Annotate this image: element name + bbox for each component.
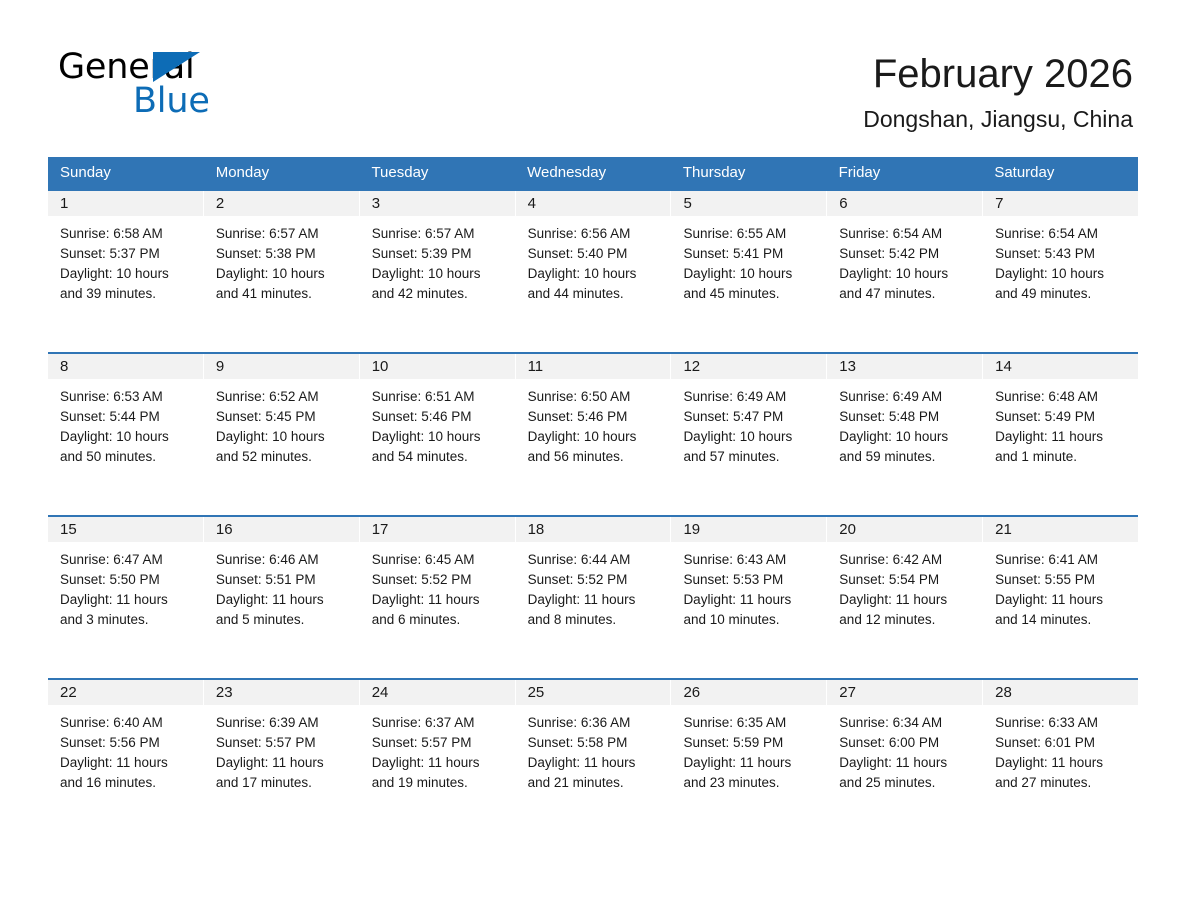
day-details: Sunrise: 6:46 AM Sunset: 5:51 PM Dayligh… bbox=[204, 542, 359, 630]
day-number: 14 bbox=[983, 354, 1138, 379]
sunrise-text: Sunrise: 6:53 AM bbox=[60, 387, 193, 407]
day-cell[interactable]: 2 Sunrise: 6:57 AM Sunset: 5:38 PM Dayli… bbox=[204, 191, 360, 352]
day-details: Sunrise: 6:52 AM Sunset: 5:45 PM Dayligh… bbox=[204, 379, 359, 467]
day-cell[interactable]: 12 Sunrise: 6:49 AM Sunset: 5:47 PM Dayl… bbox=[671, 354, 827, 515]
sunset-text: Sunset: 5:54 PM bbox=[839, 570, 972, 590]
day-number: 7 bbox=[983, 191, 1138, 216]
day-number: 16 bbox=[204, 517, 359, 542]
day-details: Sunrise: 6:43 AM Sunset: 5:53 PM Dayligh… bbox=[671, 542, 826, 630]
day-number: 24 bbox=[360, 680, 515, 705]
day-cell[interactable]: 17 Sunrise: 6:45 AM Sunset: 5:52 PM Dayl… bbox=[360, 517, 516, 678]
sunrise-text: Sunrise: 6:46 AM bbox=[216, 550, 349, 570]
day-cell[interactable]: 10 Sunrise: 6:51 AM Sunset: 5:46 PM Dayl… bbox=[360, 354, 516, 515]
day-cell[interactable]: 14 Sunrise: 6:48 AM Sunset: 5:49 PM Dayl… bbox=[983, 354, 1138, 515]
daylight-text: Daylight: 11 hours and 6 minutes. bbox=[372, 590, 505, 630]
daylight-text: Daylight: 10 hours and 56 minutes. bbox=[528, 427, 661, 467]
day-details: Sunrise: 6:34 AM Sunset: 6:00 PM Dayligh… bbox=[827, 705, 982, 793]
day-number: 9 bbox=[204, 354, 359, 379]
sunrise-text: Sunrise: 6:47 AM bbox=[60, 550, 193, 570]
day-details: Sunrise: 6:48 AM Sunset: 5:49 PM Dayligh… bbox=[983, 379, 1138, 467]
sunrise-text: Sunrise: 6:55 AM bbox=[683, 224, 816, 244]
sunset-text: Sunset: 5:40 PM bbox=[528, 244, 661, 264]
sunset-text: Sunset: 5:38 PM bbox=[216, 244, 349, 264]
daylight-text: Daylight: 11 hours and 12 minutes. bbox=[839, 590, 972, 630]
weekday-header-thursday: Thursday bbox=[671, 157, 827, 189]
day-details: Sunrise: 6:53 AM Sunset: 5:44 PM Dayligh… bbox=[48, 379, 203, 467]
day-number: 2 bbox=[204, 191, 359, 216]
day-details: Sunrise: 6:57 AM Sunset: 5:38 PM Dayligh… bbox=[204, 216, 359, 304]
day-details: Sunrise: 6:39 AM Sunset: 5:57 PM Dayligh… bbox=[204, 705, 359, 793]
page-subtitle: Dongshan, Jiangsu, China bbox=[863, 104, 1133, 134]
week-row: 1 Sunrise: 6:58 AM Sunset: 5:37 PM Dayli… bbox=[48, 189, 1138, 352]
day-cell[interactable]: 5 Sunrise: 6:55 AM Sunset: 5:41 PM Dayli… bbox=[671, 191, 827, 352]
sunset-text: Sunset: 5:58 PM bbox=[528, 733, 661, 753]
daylight-text: Daylight: 10 hours and 41 minutes. bbox=[216, 264, 349, 304]
sunset-text: Sunset: 5:41 PM bbox=[683, 244, 816, 264]
day-number: 13 bbox=[827, 354, 982, 379]
daylight-text: Daylight: 11 hours and 21 minutes. bbox=[528, 753, 661, 793]
daylight-text: Daylight: 10 hours and 52 minutes. bbox=[216, 427, 349, 467]
day-number: 10 bbox=[360, 354, 515, 379]
sunrise-text: Sunrise: 6:48 AM bbox=[995, 387, 1128, 407]
day-details: Sunrise: 6:33 AM Sunset: 6:01 PM Dayligh… bbox=[983, 705, 1138, 793]
sunrise-text: Sunrise: 6:45 AM bbox=[372, 550, 505, 570]
daylight-text: Daylight: 11 hours and 3 minutes. bbox=[60, 590, 193, 630]
sunset-text: Sunset: 5:39 PM bbox=[372, 244, 505, 264]
sunrise-text: Sunrise: 6:57 AM bbox=[216, 224, 349, 244]
week-row: 8 Sunrise: 6:53 AM Sunset: 5:44 PM Dayli… bbox=[48, 352, 1138, 515]
week-row: 22 Sunrise: 6:40 AM Sunset: 5:56 PM Dayl… bbox=[48, 678, 1138, 841]
sunrise-text: Sunrise: 6:35 AM bbox=[683, 713, 816, 733]
daylight-text: Daylight: 10 hours and 44 minutes. bbox=[528, 264, 661, 304]
daylight-text: Daylight: 11 hours and 23 minutes. bbox=[683, 753, 816, 793]
day-details: Sunrise: 6:54 AM Sunset: 5:42 PM Dayligh… bbox=[827, 216, 982, 304]
day-details: Sunrise: 6:49 AM Sunset: 5:47 PM Dayligh… bbox=[671, 379, 826, 467]
week-row: 15 Sunrise: 6:47 AM Sunset: 5:50 PM Dayl… bbox=[48, 515, 1138, 678]
title-block: February 2026 Dongshan, Jiangsu, China bbox=[863, 50, 1133, 134]
sunset-text: Sunset: 5:59 PM bbox=[683, 733, 816, 753]
logo-text-blue: Blue bbox=[133, 82, 210, 120]
sunrise-text: Sunrise: 6:54 AM bbox=[995, 224, 1128, 244]
daylight-text: Daylight: 11 hours and 19 minutes. bbox=[372, 753, 505, 793]
day-details: Sunrise: 6:37 AM Sunset: 5:57 PM Dayligh… bbox=[360, 705, 515, 793]
sunset-text: Sunset: 6:01 PM bbox=[995, 733, 1128, 753]
sunrise-text: Sunrise: 6:44 AM bbox=[528, 550, 661, 570]
sunset-text: Sunset: 5:52 PM bbox=[528, 570, 661, 590]
day-cell[interactable]: 3 Sunrise: 6:57 AM Sunset: 5:39 PM Dayli… bbox=[360, 191, 516, 352]
weekday-header-row: Sunday Monday Tuesday Wednesday Thursday… bbox=[48, 157, 1138, 189]
day-cell[interactable]: 8 Sunrise: 6:53 AM Sunset: 5:44 PM Dayli… bbox=[48, 354, 204, 515]
sunset-text: Sunset: 5:55 PM bbox=[995, 570, 1128, 590]
daylight-text: Daylight: 11 hours and 27 minutes. bbox=[995, 753, 1128, 793]
day-number: 12 bbox=[671, 354, 826, 379]
sunrise-text: Sunrise: 6:33 AM bbox=[995, 713, 1128, 733]
day-number: 28 bbox=[983, 680, 1138, 705]
sunrise-text: Sunrise: 6:49 AM bbox=[683, 387, 816, 407]
logo-triangle-icon bbox=[153, 52, 200, 82]
sunrise-text: Sunrise: 6:50 AM bbox=[528, 387, 661, 407]
sunset-text: Sunset: 5:49 PM bbox=[995, 407, 1128, 427]
calendar-table: Sunday Monday Tuesday Wednesday Thursday… bbox=[48, 157, 1138, 841]
sunset-text: Sunset: 5:37 PM bbox=[60, 244, 193, 264]
daylight-text: Daylight: 10 hours and 54 minutes. bbox=[372, 427, 505, 467]
sunrise-text: Sunrise: 6:34 AM bbox=[839, 713, 972, 733]
day-details: Sunrise: 6:47 AM Sunset: 5:50 PM Dayligh… bbox=[48, 542, 203, 630]
sunrise-text: Sunrise: 6:39 AM bbox=[216, 713, 349, 733]
sunrise-text: Sunrise: 6:56 AM bbox=[528, 224, 661, 244]
day-number: 15 bbox=[48, 517, 203, 542]
day-details: Sunrise: 6:56 AM Sunset: 5:40 PM Dayligh… bbox=[516, 216, 671, 304]
page-header: General Blue February 2026 Dongshan, Jia… bbox=[0, 0, 1188, 110]
sunset-text: Sunset: 5:42 PM bbox=[839, 244, 972, 264]
sunset-text: Sunset: 5:43 PM bbox=[995, 244, 1128, 264]
day-cell[interactable]: 7 Sunrise: 6:54 AM Sunset: 5:43 PM Dayli… bbox=[983, 191, 1138, 352]
daylight-text: Daylight: 11 hours and 8 minutes. bbox=[528, 590, 661, 630]
daylight-text: Daylight: 10 hours and 59 minutes. bbox=[839, 427, 972, 467]
daylight-text: Daylight: 10 hours and 50 minutes. bbox=[60, 427, 193, 467]
day-details: Sunrise: 6:42 AM Sunset: 5:54 PM Dayligh… bbox=[827, 542, 982, 630]
sunset-text: Sunset: 5:46 PM bbox=[528, 407, 661, 427]
page-title: February 2026 bbox=[863, 50, 1133, 98]
day-number: 1 bbox=[48, 191, 203, 216]
weekday-header-sunday: Sunday bbox=[48, 157, 204, 189]
sunset-text: Sunset: 5:53 PM bbox=[683, 570, 816, 590]
weekday-header-monday: Monday bbox=[204, 157, 360, 189]
daylight-text: Daylight: 10 hours and 39 minutes. bbox=[60, 264, 193, 304]
day-details: Sunrise: 6:36 AM Sunset: 5:58 PM Dayligh… bbox=[516, 705, 671, 793]
day-cell[interactable]: 20 Sunrise: 6:42 AM Sunset: 5:54 PM Dayl… bbox=[827, 517, 983, 678]
day-number: 3 bbox=[360, 191, 515, 216]
daylight-text: Daylight: 10 hours and 57 minutes. bbox=[683, 427, 816, 467]
day-cell[interactable]: 9 Sunrise: 6:52 AM Sunset: 5:45 PM Dayli… bbox=[204, 354, 360, 515]
daylight-text: Daylight: 11 hours and 16 minutes. bbox=[60, 753, 193, 793]
day-cell[interactable]: 13 Sunrise: 6:49 AM Sunset: 5:48 PM Dayl… bbox=[827, 354, 983, 515]
sunset-text: Sunset: 5:44 PM bbox=[60, 407, 193, 427]
sunset-text: Sunset: 5:57 PM bbox=[372, 733, 505, 753]
day-cell[interactable]: 11 Sunrise: 6:50 AM Sunset: 5:46 PM Dayl… bbox=[516, 354, 672, 515]
day-number: 26 bbox=[671, 680, 826, 705]
day-cell[interactable]: 28 Sunrise: 6:33 AM Sunset: 6:01 PM Dayl… bbox=[983, 680, 1138, 841]
daylight-text: Daylight: 10 hours and 49 minutes. bbox=[995, 264, 1128, 304]
day-cell[interactable]: 24 Sunrise: 6:37 AM Sunset: 5:57 PM Dayl… bbox=[360, 680, 516, 841]
day-cell[interactable]: 19 Sunrise: 6:43 AM Sunset: 5:53 PM Dayl… bbox=[671, 517, 827, 678]
day-details: Sunrise: 6:40 AM Sunset: 5:56 PM Dayligh… bbox=[48, 705, 203, 793]
day-cell[interactable]: 25 Sunrise: 6:36 AM Sunset: 5:58 PM Dayl… bbox=[516, 680, 672, 841]
daylight-text: Daylight: 11 hours and 1 minute. bbox=[995, 427, 1128, 467]
sunrise-text: Sunrise: 6:49 AM bbox=[839, 387, 972, 407]
day-details: Sunrise: 6:41 AM Sunset: 5:55 PM Dayligh… bbox=[983, 542, 1138, 630]
sunset-text: Sunset: 5:46 PM bbox=[372, 407, 505, 427]
sunset-text: Sunset: 5:50 PM bbox=[60, 570, 193, 590]
sunrise-text: Sunrise: 6:52 AM bbox=[216, 387, 349, 407]
day-cell[interactable]: 23 Sunrise: 6:39 AM Sunset: 5:57 PM Dayl… bbox=[204, 680, 360, 841]
sunrise-text: Sunrise: 6:41 AM bbox=[995, 550, 1128, 570]
sunrise-text: Sunrise: 6:51 AM bbox=[372, 387, 505, 407]
weekday-header-wednesday: Wednesday bbox=[515, 157, 671, 189]
day-cell[interactable]: 18 Sunrise: 6:44 AM Sunset: 5:52 PM Dayl… bbox=[516, 517, 672, 678]
day-cell[interactable]: 4 Sunrise: 6:56 AM Sunset: 5:40 PM Dayli… bbox=[516, 191, 672, 352]
day-details: Sunrise: 6:55 AM Sunset: 5:41 PM Dayligh… bbox=[671, 216, 826, 304]
day-details: Sunrise: 6:35 AM Sunset: 5:59 PM Dayligh… bbox=[671, 705, 826, 793]
daylight-text: Daylight: 11 hours and 25 minutes. bbox=[839, 753, 972, 793]
daylight-text: Daylight: 11 hours and 10 minutes. bbox=[683, 590, 816, 630]
day-cell[interactable]: 27 Sunrise: 6:34 AM Sunset: 6:00 PM Dayl… bbox=[827, 680, 983, 841]
day-details: Sunrise: 6:44 AM Sunset: 5:52 PM Dayligh… bbox=[516, 542, 671, 630]
day-details: Sunrise: 6:49 AM Sunset: 5:48 PM Dayligh… bbox=[827, 379, 982, 467]
day-number: 21 bbox=[983, 517, 1138, 542]
daylight-text: Daylight: 11 hours and 5 minutes. bbox=[216, 590, 349, 630]
sunrise-text: Sunrise: 6:42 AM bbox=[839, 550, 972, 570]
day-details: Sunrise: 6:57 AM Sunset: 5:39 PM Dayligh… bbox=[360, 216, 515, 304]
day-cell[interactable]: 16 Sunrise: 6:46 AM Sunset: 5:51 PM Dayl… bbox=[204, 517, 360, 678]
day-number: 6 bbox=[827, 191, 982, 216]
day-cell[interactable]: 15 Sunrise: 6:47 AM Sunset: 5:50 PM Dayl… bbox=[48, 517, 204, 678]
sunset-text: Sunset: 5:51 PM bbox=[216, 570, 349, 590]
sunset-text: Sunset: 6:00 PM bbox=[839, 733, 972, 753]
day-cell[interactable]: 1 Sunrise: 6:58 AM Sunset: 5:37 PM Dayli… bbox=[48, 191, 204, 352]
sunrise-text: Sunrise: 6:40 AM bbox=[60, 713, 193, 733]
day-details: Sunrise: 6:51 AM Sunset: 5:46 PM Dayligh… bbox=[360, 379, 515, 467]
sunset-text: Sunset: 5:57 PM bbox=[216, 733, 349, 753]
sunset-text: Sunset: 5:45 PM bbox=[216, 407, 349, 427]
daylight-text: Daylight: 11 hours and 17 minutes. bbox=[216, 753, 349, 793]
sunrise-text: Sunrise: 6:36 AM bbox=[528, 713, 661, 733]
sunset-text: Sunset: 5:52 PM bbox=[372, 570, 505, 590]
day-number: 25 bbox=[516, 680, 671, 705]
day-cell[interactable]: 22 Sunrise: 6:40 AM Sunset: 5:56 PM Dayl… bbox=[48, 680, 204, 841]
day-cell[interactable]: 6 Sunrise: 6:54 AM Sunset: 5:42 PM Dayli… bbox=[827, 191, 983, 352]
sunrise-text: Sunrise: 6:37 AM bbox=[372, 713, 505, 733]
day-number: 5 bbox=[671, 191, 826, 216]
day-number: 18 bbox=[516, 517, 671, 542]
daylight-text: Daylight: 11 hours and 14 minutes. bbox=[995, 590, 1128, 630]
weekday-header-tuesday: Tuesday bbox=[359, 157, 515, 189]
daylight-text: Daylight: 10 hours and 47 minutes. bbox=[839, 264, 972, 304]
day-number: 27 bbox=[827, 680, 982, 705]
day-details: Sunrise: 6:50 AM Sunset: 5:46 PM Dayligh… bbox=[516, 379, 671, 467]
sunrise-text: Sunrise: 6:54 AM bbox=[839, 224, 972, 244]
daylight-text: Daylight: 10 hours and 42 minutes. bbox=[372, 264, 505, 304]
weekday-header-friday: Friday bbox=[827, 157, 983, 189]
sunrise-text: Sunrise: 6:58 AM bbox=[60, 224, 193, 244]
day-number: 23 bbox=[204, 680, 359, 705]
day-cell[interactable]: 21 Sunrise: 6:41 AM Sunset: 5:55 PM Dayl… bbox=[983, 517, 1138, 678]
day-number: 4 bbox=[516, 191, 671, 216]
day-number: 22 bbox=[48, 680, 203, 705]
day-number: 19 bbox=[671, 517, 826, 542]
day-number: 20 bbox=[827, 517, 982, 542]
sunset-text: Sunset: 5:48 PM bbox=[839, 407, 972, 427]
sunrise-text: Sunrise: 6:43 AM bbox=[683, 550, 816, 570]
generalblue-logo[interactable]: General Blue bbox=[58, 48, 358, 128]
daylight-text: Daylight: 10 hours and 45 minutes. bbox=[683, 264, 816, 304]
calendar-page: General Blue February 2026 Dongshan, Jia… bbox=[0, 0, 1188, 918]
day-number: 11 bbox=[516, 354, 671, 379]
day-details: Sunrise: 6:45 AM Sunset: 5:52 PM Dayligh… bbox=[360, 542, 515, 630]
weekday-header-saturday: Saturday bbox=[982, 157, 1138, 189]
day-details: Sunrise: 6:54 AM Sunset: 5:43 PM Dayligh… bbox=[983, 216, 1138, 304]
day-details: Sunrise: 6:58 AM Sunset: 5:37 PM Dayligh… bbox=[48, 216, 203, 304]
sunset-text: Sunset: 5:47 PM bbox=[683, 407, 816, 427]
day-number: 17 bbox=[360, 517, 515, 542]
day-number: 8 bbox=[48, 354, 203, 379]
day-cell[interactable]: 26 Sunrise: 6:35 AM Sunset: 5:59 PM Dayl… bbox=[671, 680, 827, 841]
sunrise-text: Sunrise: 6:57 AM bbox=[372, 224, 505, 244]
sunset-text: Sunset: 5:56 PM bbox=[60, 733, 193, 753]
